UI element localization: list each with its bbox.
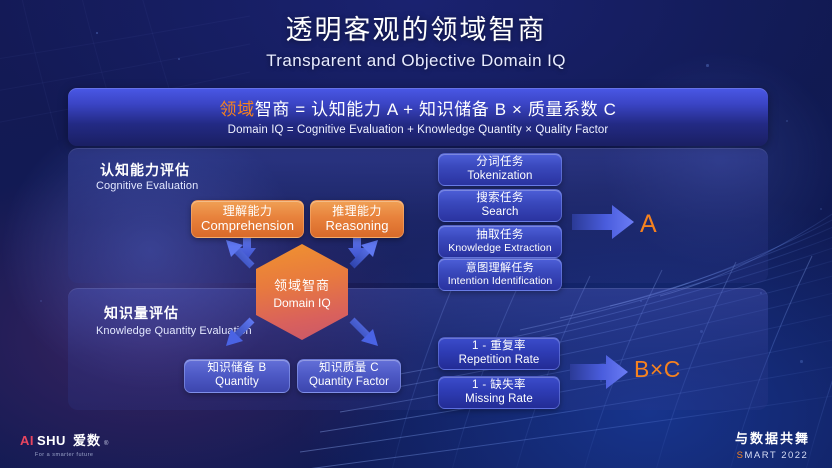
logo-shu-text: SHU — [37, 433, 66, 448]
task-label-en: Knowledge Extraction — [448, 242, 552, 254]
event-slogan-cn: 与数据共舞 — [735, 428, 810, 447]
task-label-cn: 抽取任务 — [476, 229, 524, 243]
task-box-tokenization[interactable]: 分词任务 Tokenization — [438, 153, 562, 186]
arrow-hex-downright — [352, 320, 378, 346]
quantity-label-en: Quantity — [215, 376, 259, 390]
logo-registered-mark: ® — [104, 441, 108, 447]
logo-wordmark: AI SHU 爱数 ® — [20, 430, 108, 449]
rate-label-en: Missing Rate — [465, 393, 533, 407]
hexagon-label-en: Domain IQ — [273, 296, 330, 310]
ability-label-cn: 推理能力 — [332, 204, 382, 218]
quantity-box-quality-factor[interactable]: 知识质量 C Quantity Factor — [297, 359, 401, 393]
ability-label-en: Reasoning — [325, 218, 388, 233]
event-name-rest: MART 2022 — [744, 450, 808, 461]
logo-tagline: For a smarter future — [20, 452, 108, 458]
task-box-knowledge-extraction[interactable]: 抽取任务 Knowledge Extraction — [438, 225, 562, 258]
arrow-layer — [0, 0, 832, 468]
ability-box-reasoning[interactable]: 推理能力 Reasoning — [310, 200, 404, 238]
task-box-search[interactable]: 搜索任务 Search — [438, 189, 562, 222]
task-label-en: Search — [481, 206, 518, 220]
task-label-cn: 意图理解任务 — [466, 262, 534, 275]
event-branding: 与数据共舞 SMART 2022 — [735, 428, 810, 461]
task-label-en: Tokenization — [467, 170, 532, 184]
result-label-a: A — [640, 210, 657, 239]
brand-logo: AI SHU 爱数 ® For a smarter future — [20, 430, 108, 458]
ability-label-cn: 理解能力 — [223, 204, 273, 218]
ability-label-en: Comprehension — [201, 218, 294, 233]
rate-label-en: Repetition Rate — [459, 354, 540, 368]
arrow-hex-upleft — [226, 240, 258, 270]
quantity-box-knowledge-quantity[interactable]: 知识储备 B Quantity — [184, 359, 290, 393]
rate-label-cn: 1 - 缺失率 — [472, 379, 526, 393]
rate-label-cn: 1 - 重复率 — [472, 340, 526, 354]
logo-ai-text: AI — [20, 433, 34, 448]
arrow-to-bc — [570, 355, 628, 389]
arrow-to-a — [572, 205, 634, 239]
hexagon-label-cn: 领域智商 — [274, 275, 330, 294]
task-label-en: Intention Identification — [448, 275, 553, 287]
quantity-label-cn: 知识储备 B — [207, 362, 266, 376]
result-label-bc: B×C — [634, 356, 681, 383]
task-box-intention-identification[interactable]: 意图理解任务 Intention Identification — [438, 258, 562, 291]
task-label-cn: 搜索任务 — [476, 192, 524, 206]
logo-cn-text: 爱数 — [73, 430, 101, 449]
task-label-cn: 分词任务 — [476, 156, 524, 170]
event-name: SMART 2022 — [735, 450, 810, 461]
rate-box-repetition-rate[interactable]: 1 - 重复率 Repetition Rate — [438, 337, 560, 370]
rate-box-missing-rate[interactable]: 1 - 缺失率 Missing Rate — [438, 376, 560, 409]
quantity-label-cn: 知识质量 C — [319, 362, 379, 376]
arrow-hex-downleft — [226, 320, 252, 346]
ability-box-comprehension[interactable]: 理解能力 Comprehension — [191, 200, 304, 238]
quantity-label-en: Quantity Factor — [309, 376, 389, 390]
